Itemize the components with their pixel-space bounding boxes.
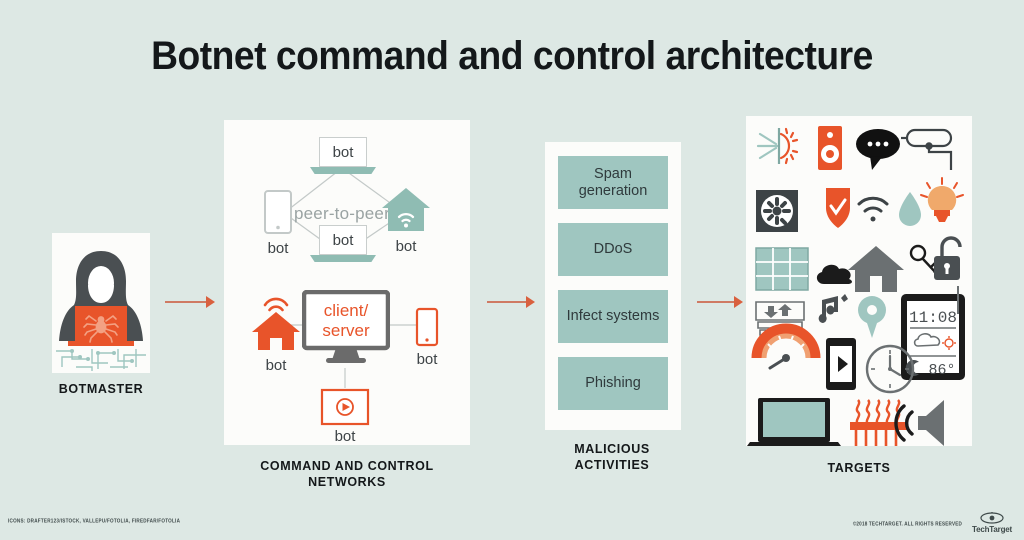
cs-node-left-label: bot bbox=[251, 357, 301, 374]
smart-display-temperature: 86° bbox=[928, 362, 955, 379]
arrow-botmaster-to-cc bbox=[165, 295, 215, 309]
botmaster-caption: BOTMASTER bbox=[32, 381, 170, 397]
mp3-player-icon bbox=[818, 126, 842, 170]
clock-icon bbox=[867, 346, 913, 392]
client-server-label: client/ server bbox=[312, 301, 380, 341]
botmaster-panel bbox=[52, 233, 150, 373]
shield-check-icon bbox=[826, 188, 850, 228]
location-pin-icon bbox=[858, 296, 886, 338]
smart-display-time: 11:08 bbox=[909, 309, 957, 327]
cs-node-left bbox=[250, 288, 302, 354]
techtarget-wordmark: TechTarget bbox=[966, 525, 1018, 534]
p2p-node-top-label: bot bbox=[319, 137, 367, 167]
arrow-malicious-to-targets bbox=[697, 295, 743, 309]
malicious-activities-panel: Spam generation DDoS Infect systems Phis… bbox=[545, 142, 681, 430]
unlocked-padlock-icon bbox=[934, 238, 960, 280]
arrow-shaft bbox=[487, 301, 528, 303]
infographic-canvas: Botnet command and control architecture bbox=[0, 0, 1024, 540]
p2p-node-bottom-label: bot bbox=[319, 225, 367, 255]
malicious-item-phishing[interactable]: Phishing bbox=[558, 357, 668, 410]
peer-to-peer-label: peer-to-peer bbox=[294, 204, 390, 224]
water-drop-icon bbox=[899, 192, 921, 226]
arrow-cc-to-malicious bbox=[487, 295, 535, 309]
cs-node-right-label: bot bbox=[402, 351, 452, 368]
targets-icon-grid: 11:08 86° bbox=[746, 116, 972, 446]
wifi-icon bbox=[265, 299, 287, 310]
command-control-caption-line2: NETWORKS bbox=[227, 474, 467, 490]
brightness-icon bbox=[758, 128, 797, 164]
house-icon bbox=[848, 246, 904, 292]
p2p-node-left-label: bot bbox=[253, 240, 303, 257]
arrow-head bbox=[206, 296, 215, 308]
cloud-icon bbox=[817, 265, 852, 284]
arrow-shaft bbox=[697, 301, 736, 303]
solar-panel-icon bbox=[756, 248, 808, 290]
copyright-notice: ©2018 TECHTARGET. ALL RIGHTS RESERVED bbox=[853, 521, 962, 527]
smart-display-icon: 11:08 86° bbox=[901, 294, 965, 380]
cs-node-bottom-label: bot bbox=[320, 428, 370, 445]
p2p-node-right bbox=[380, 184, 432, 236]
icon-credits: ICONS: DRAFTER123/ISTOCK, VALLEPU/FOTOLI… bbox=[8, 518, 180, 524]
command-control-panel: bot peer-to-peer bot bot bot bbox=[224, 120, 470, 445]
arrow-head bbox=[734, 296, 743, 308]
security-camera-icon bbox=[901, 130, 951, 170]
speech-bubble-icon bbox=[856, 129, 900, 170]
command-control-caption-line1: COMMAND AND CONTROL bbox=[227, 458, 467, 474]
wifi-icon bbox=[859, 198, 887, 221]
arrow-head bbox=[526, 296, 535, 308]
music-note-icon bbox=[819, 294, 848, 323]
speedometer-icon bbox=[758, 330, 814, 368]
p2p-node-left bbox=[262, 189, 295, 239]
p2p-node-right-label: bot bbox=[381, 238, 431, 255]
phone-play-icon bbox=[826, 338, 856, 390]
light-bulb-icon bbox=[921, 178, 963, 222]
cs-node-bottom bbox=[320, 388, 370, 426]
client-server-label-line2: server bbox=[312, 321, 380, 341]
p2p-node-top: bot bbox=[319, 137, 367, 174]
techtarget-eye-icon bbox=[966, 512, 1018, 525]
command-control-caption: COMMAND AND CONTROL NETWORKS bbox=[227, 458, 467, 490]
radiator-icon bbox=[850, 400, 908, 446]
malicious-item-infect-systems[interactable]: Infect systems bbox=[558, 290, 668, 343]
p2p-node-bottom: bot bbox=[319, 225, 367, 262]
malicious-item-spam-generation[interactable]: Spam generation bbox=[558, 156, 668, 209]
laptop-icon bbox=[746, 398, 844, 446]
targets-caption: TARGETS bbox=[759, 460, 959, 476]
malicious-activities-caption: MALICIOUS ACTIVITIES bbox=[532, 441, 692, 473]
client-server-label-line1: client/ bbox=[312, 301, 380, 321]
cs-node-right bbox=[414, 307, 440, 349]
arrow-shaft bbox=[165, 301, 208, 303]
laptop-base bbox=[310, 167, 376, 174]
malicious-caption-line1: MALICIOUS bbox=[532, 441, 692, 457]
page-title: Botnet command and control architecture bbox=[36, 34, 988, 79]
hooded-figure-icon bbox=[52, 233, 150, 373]
malicious-caption-line2: ACTIVITIES bbox=[532, 457, 692, 473]
targets-panel: 11:08 86° bbox=[746, 116, 972, 446]
techtarget-logo: TechTarget bbox=[966, 512, 1018, 534]
malicious-item-ddos[interactable]: DDoS bbox=[558, 223, 668, 276]
fan-icon bbox=[756, 190, 798, 232]
laptop-base bbox=[310, 255, 376, 262]
